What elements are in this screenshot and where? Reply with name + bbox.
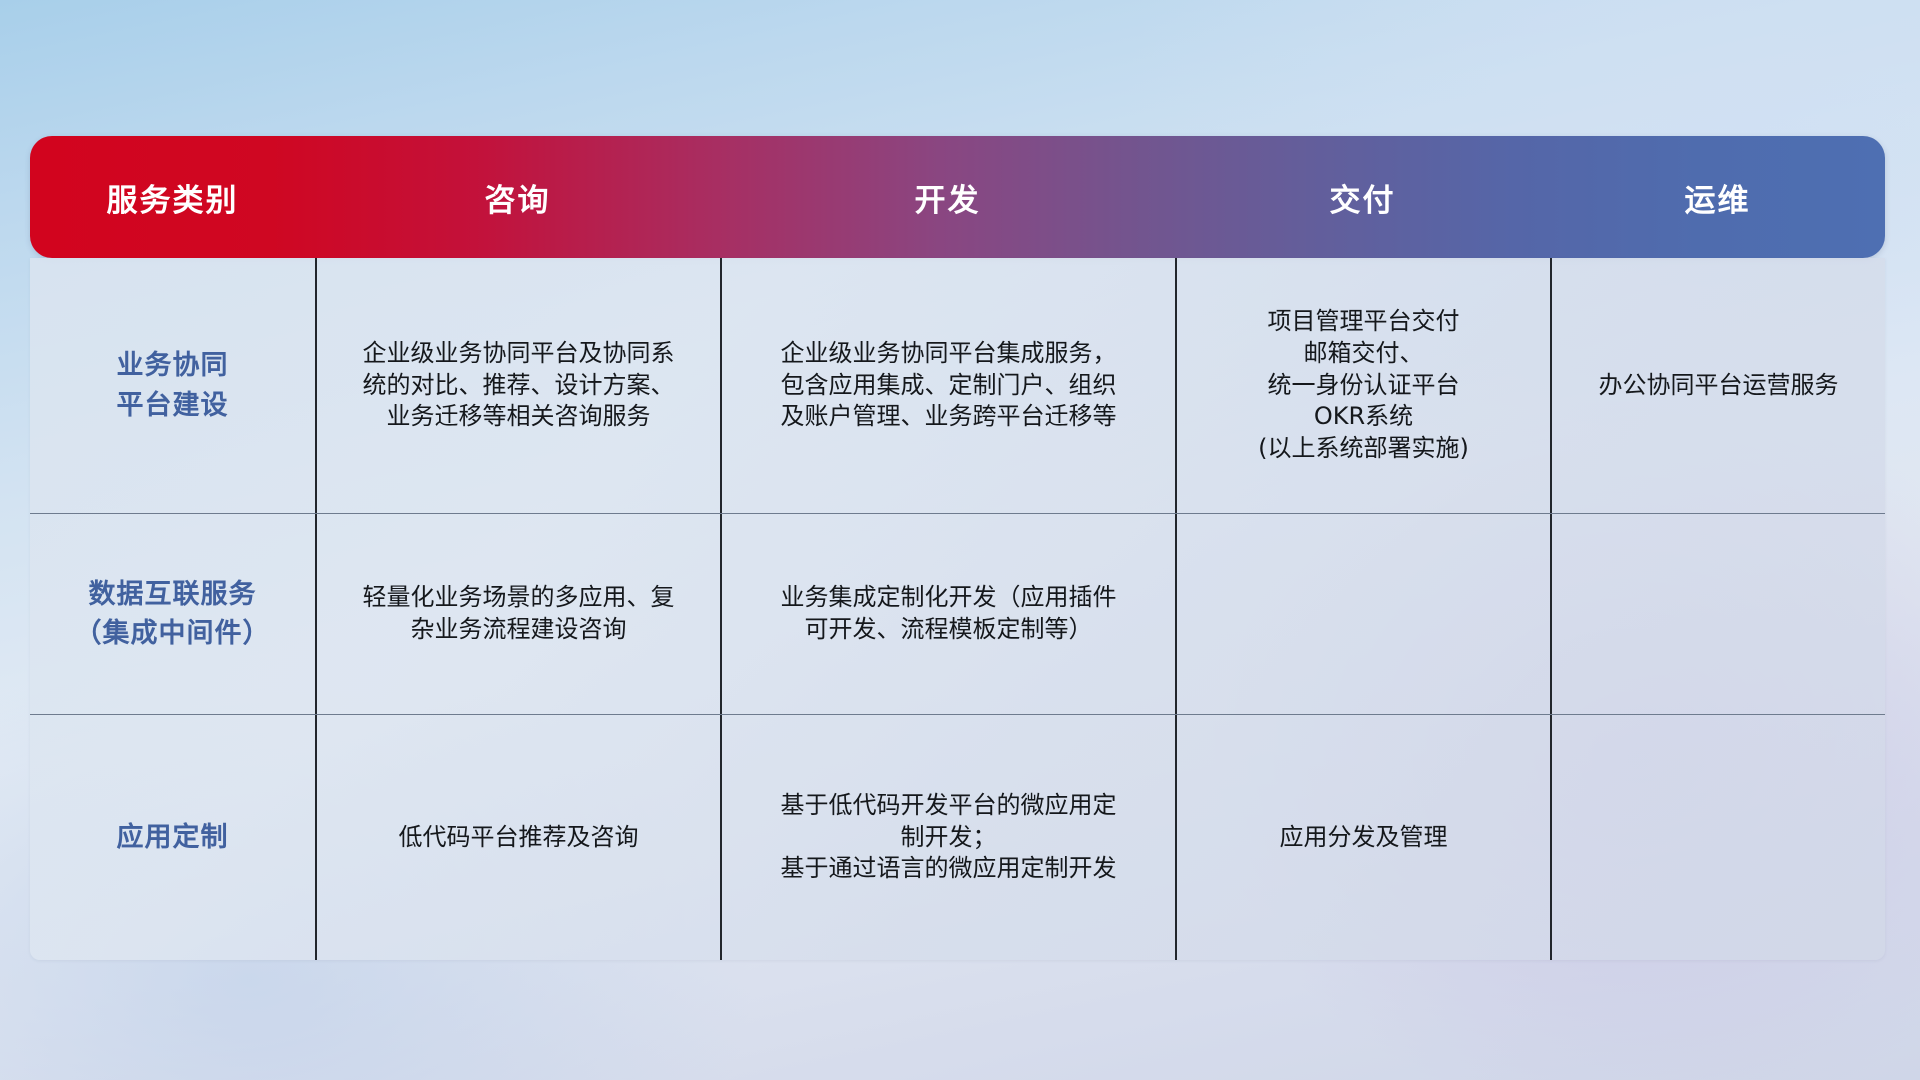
column-header-delivery: 交付 [1175,136,1550,258]
cell-row1-development: 企业级业务协同平台集成服务， 包含应用集成、定制门户、组织 及账户管理、业务跨平… [720,258,1175,513]
table-row: 应用定制 低代码平台推荐及咨询 基于低代码开发平台的微应用定 制开发； 基于通过… [30,714,1885,960]
row-label-app-customization: 应用定制 [30,715,315,960]
column-header-consulting: 咨询 [315,136,720,258]
row-label-business-collaboration: 业务协同 平台建设 [30,258,315,513]
column-header-category: 服务类别 [30,136,315,258]
cell-row2-operations [1550,514,1885,714]
cell-row2-development: 业务集成定制化开发（应用插件 可开发、流程模板定制等） [720,514,1175,714]
cell-row3-development: 基于低代码开发平台的微应用定 制开发； 基于通过语言的微应用定制开发 [720,715,1175,960]
cell-row1-operations: 办公协同平台运营服务 [1550,258,1885,513]
cell-row1-consulting: 企业级业务协同平台及协同系 统的对比、推荐、设计方案、 业务迁移等相关咨询服务 [315,258,720,513]
cell-row1-delivery: 项目管理平台交付 邮箱交付、 统一身份认证平台 OKR系统 (以上系统部署实施) [1175,258,1550,513]
cell-row3-delivery: 应用分发及管理 [1175,715,1550,960]
table-header-row: 服务类别 咨询 开发 交付 运维 [30,136,1885,258]
column-header-operations: 运维 [1550,136,1885,258]
cell-row2-delivery [1175,514,1550,714]
row-label-data-interconnect: 数据互联服务 （集成中间件） [30,514,315,714]
table-row: 业务协同 平台建设 企业级业务协同平台及协同系 统的对比、推荐、设计方案、 业务… [30,258,1885,513]
column-header-development: 开发 [720,136,1175,258]
table-row: 数据互联服务 （集成中间件） 轻量化业务场景的多应用、复 杂业务流程建设咨询 业… [30,513,1885,714]
slide-canvas: 服务类别 咨询 开发 交付 运维 业务协同 平台建设 企业级业务协同平台及协同系… [0,0,1920,1080]
table-body: 业务协同 平台建设 企业级业务协同平台及协同系 统的对比、推荐、设计方案、 业务… [30,258,1885,960]
service-matrix-table: 服务类别 咨询 开发 交付 运维 业务协同 平台建设 企业级业务协同平台及协同系… [30,136,1885,966]
cell-row3-consulting: 低代码平台推荐及咨询 [315,715,720,960]
cell-row2-consulting: 轻量化业务场景的多应用、复 杂业务流程建设咨询 [315,514,720,714]
cell-row3-operations [1550,715,1885,960]
